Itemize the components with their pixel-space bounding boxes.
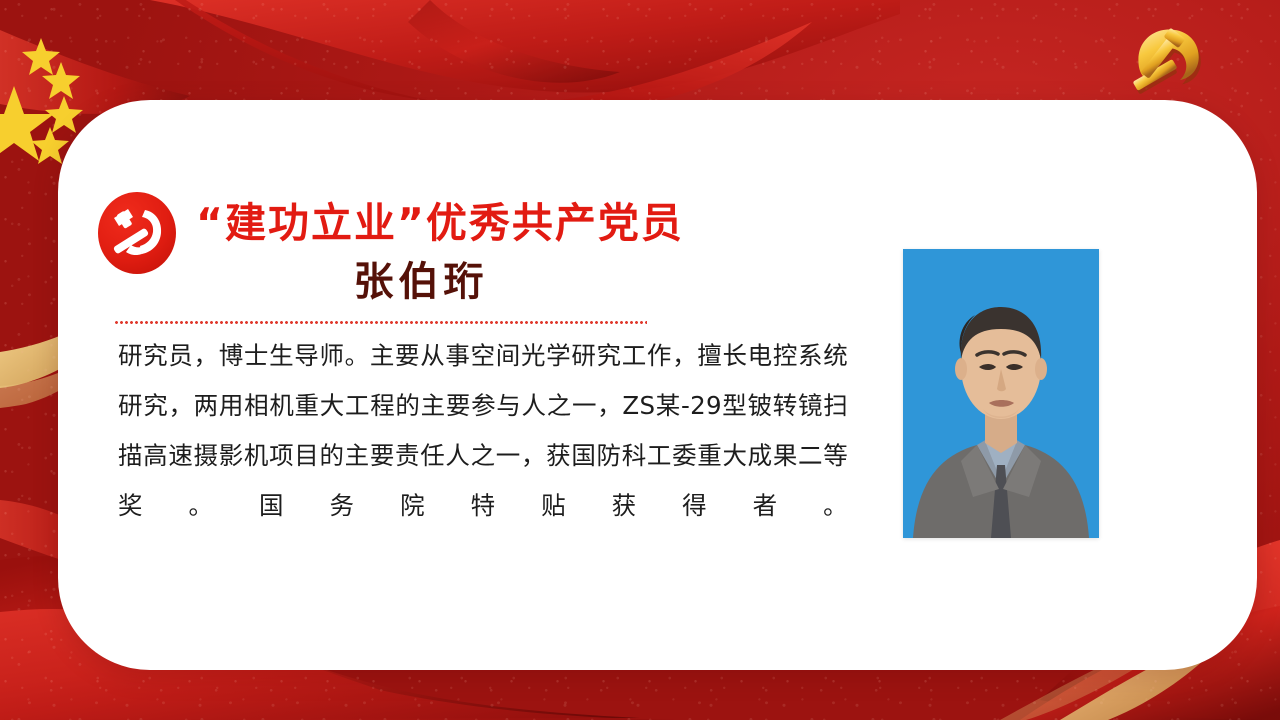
biography-text: 研究员，博士生导师。主要从事空间光学研究工作，擅长电控系统研究，两用相机重大工程… [118, 331, 848, 531]
page-title: “建功立业”优秀共产党员 [196, 203, 684, 244]
slide-root: “建功立业”优秀共产党员 张伯珩 研究员，博士生导师。主要从事空间光学研究工作，… [0, 0, 1280, 720]
person-name: 张伯珩 [196, 262, 646, 302]
portrait-photo-icon [903, 249, 1099, 538]
party-emblem-hammer-sickle-icon [98, 192, 176, 274]
dotted-divider [114, 321, 647, 324]
